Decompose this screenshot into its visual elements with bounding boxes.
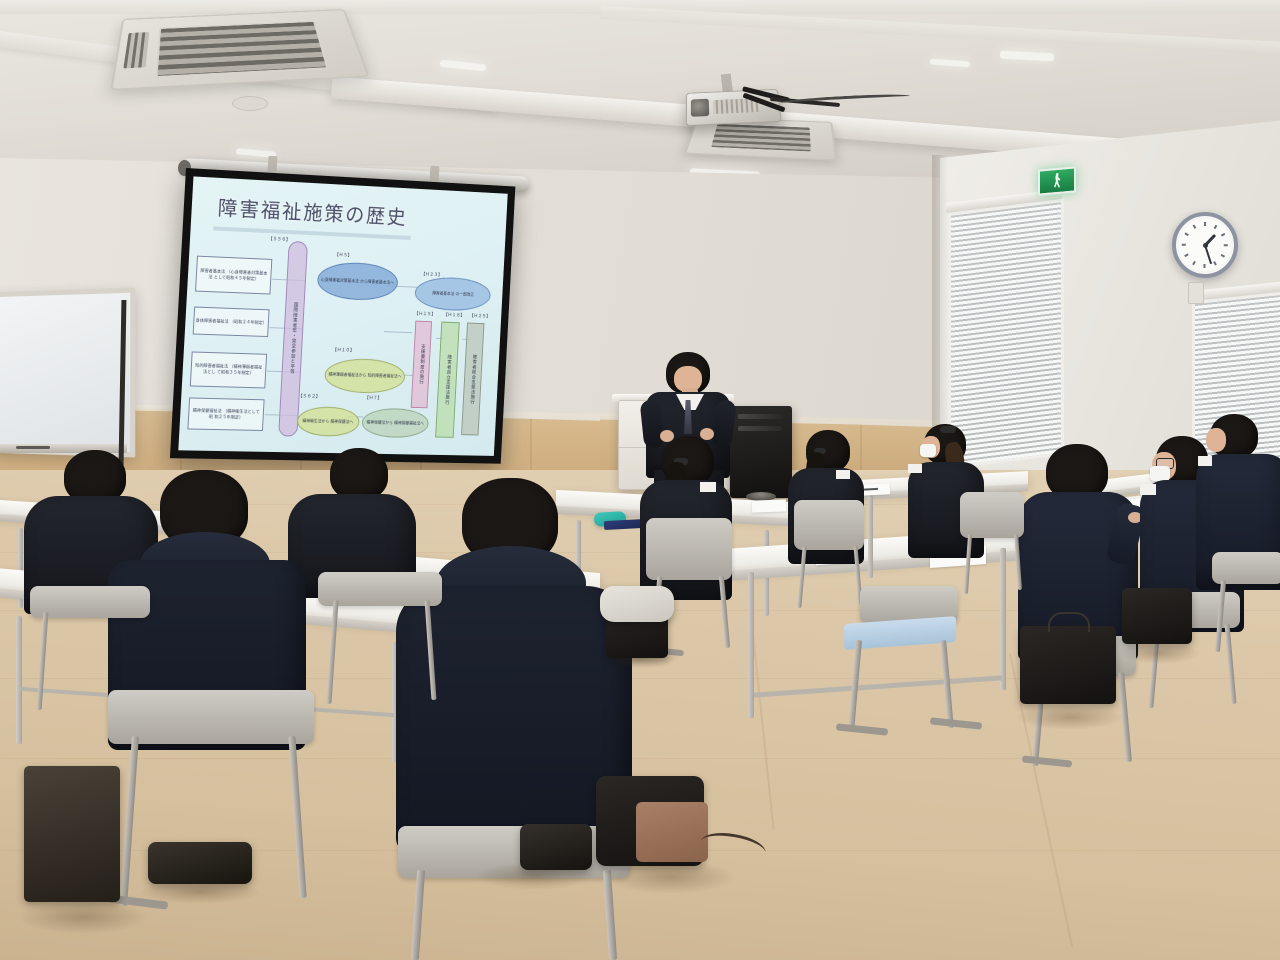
running-person-icon	[1053, 172, 1062, 188]
attendee-collar	[836, 470, 850, 479]
briefcase	[1020, 626, 1116, 704]
slide-box: 精神保健福祉法 （精神衛生法として昭 和２５年制定）	[188, 397, 265, 431]
projection-screen: 障害福祉施策の歴史 【Ｓ５６】 【Ｈ５】 【Ｈ２３】 【Ｈ１５】 【Ｈ１８】 【…	[170, 168, 515, 464]
classroom-scene: 障害福祉施策の歴史 【Ｓ５６】 【Ｈ５】 【Ｈ２３】 【Ｈ１５】 【Ｈ１８】 【…	[0, 0, 1280, 960]
attendee-head	[330, 448, 388, 500]
clock-minute-hand	[1204, 245, 1212, 265]
slide-box: 身体障害者福祉法 （昭和２４年制定）	[193, 307, 269, 337]
slide-box: 知的障害者福祉法 （精神薄弱者福祉法とし て昭和３５年制定）	[190, 352, 267, 388]
slide-ellipse: 精神保健法から 精神保健福祉法へ	[361, 408, 430, 438]
wall-fixture	[1188, 282, 1204, 304]
slide-vertical-bar: 支援費制度の施行	[411, 320, 433, 408]
slide-year-label: 【Ｈ２５】	[469, 313, 490, 320]
ac-grille	[155, 21, 329, 78]
ac-vent	[123, 32, 149, 68]
desk-leg	[868, 494, 873, 578]
slide-ellipse: 心身障害者対策基本法 から障害者基本法へ	[316, 261, 398, 301]
hair-accessory	[940, 426, 956, 433]
whiteboard-marker	[16, 446, 50, 449]
slide-title: 障害福祉施策の歴史	[217, 191, 408, 229]
object-shadow	[1118, 642, 1200, 664]
attendee-collar	[1198, 456, 1212, 466]
briefcase-handle	[1048, 612, 1090, 632]
ac-sensor	[232, 96, 268, 111]
cloth-bag	[600, 586, 674, 622]
shoe	[148, 842, 252, 884]
slide-ellipse: 障害者基本法 の一部改正	[415, 276, 492, 311]
slide-year-label: 【Ｈ１８】	[443, 312, 464, 319]
slide-surface: 障害福祉施策の歴史 【Ｓ５６】 【Ｈ５】 【Ｈ２３】 【Ｈ１５】 【Ｈ１８】 【…	[178, 176, 507, 455]
wall-clock-icon	[1172, 212, 1238, 278]
face-mask-icon	[920, 444, 936, 457]
window-left	[948, 199, 1064, 469]
screen-bracket	[430, 166, 440, 182]
slide-box: 障害者基本法 （心身障害者対策基本法 として昭和４５年制定）	[195, 256, 272, 294]
handout-paper	[860, 483, 891, 496]
air-conditioner-icon	[110, 9, 370, 91]
av-panel	[738, 426, 782, 431]
bag	[24, 766, 120, 902]
slide-year-label: 【Ｓ６２】	[298, 393, 320, 399]
desk-leg	[1000, 548, 1006, 690]
backpack-flap	[636, 802, 708, 862]
venetian-blinds	[951, 202, 1061, 466]
projector-lens	[691, 99, 709, 117]
attendee-collar	[1140, 484, 1156, 495]
av-panel	[738, 414, 782, 419]
clock-face	[1179, 219, 1231, 271]
attendee-collar	[700, 482, 716, 492]
ac-grille	[712, 124, 811, 151]
slide-year-label: 【Ｈ１５】	[414, 311, 436, 318]
clock-pin	[1203, 243, 1208, 248]
slide-year-label: 【Ｈ５】	[334, 251, 352, 258]
object-shadow	[18, 900, 148, 934]
slide-ellipse: 精神薄弱者福祉法から 知的障害者福祉法へ	[324, 357, 406, 393]
attendee-collar	[908, 464, 922, 473]
slide-vertical-bar: 国際障害者年・完全参加と平等	[278, 241, 308, 436]
face-mask-icon	[1150, 466, 1170, 481]
briefcase	[1122, 588, 1192, 644]
av-equipment-rack	[730, 406, 792, 498]
slide-title-underline	[213, 227, 410, 240]
presenter-hand-right	[700, 428, 714, 440]
attendee-face	[1206, 428, 1226, 452]
handout-paper	[752, 499, 786, 512]
object-shadow	[1016, 704, 1124, 730]
slide-year-label: 【Ｓ５６】	[268, 236, 291, 243]
slide-year-label: 【Ｈ１０】	[332, 347, 354, 354]
exit-sign-icon	[1038, 166, 1076, 195]
shoe	[520, 824, 592, 870]
slide-ellipse: 精神衛生法から 精神保健法へ	[296, 406, 360, 436]
screen-bracket	[268, 156, 278, 172]
desk-leg	[16, 616, 22, 744]
whiteboard	[0, 288, 135, 458]
slide-year-label: 【Ｈ７】	[364, 395, 382, 401]
slide-year-label: 【Ｈ２３】	[421, 271, 443, 278]
